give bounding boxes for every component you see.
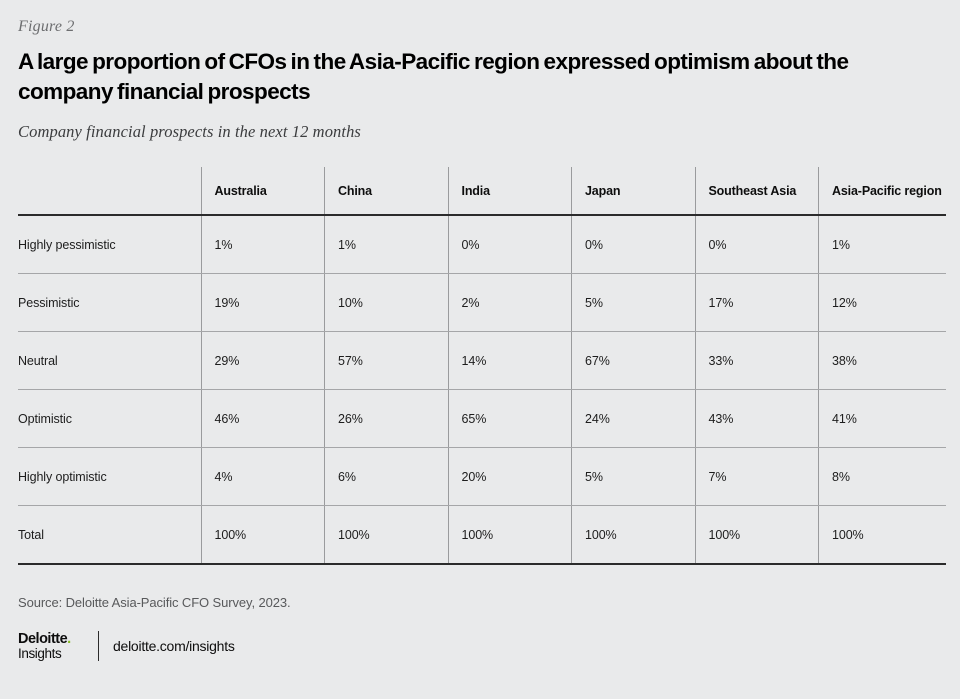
cell-highly-pessimistic-japan: 0% [572, 215, 696, 274]
cell-highly-pessimistic-australia: 1% [201, 215, 325, 274]
row-label-neutral: Neutral [18, 332, 201, 390]
cell-pessimistic-japan: 5% [572, 274, 696, 332]
cell-pessimistic-southeast-asia: 17% [695, 274, 819, 332]
cell-total-india: 100% [448, 506, 572, 565]
cell-pessimistic-china: 10% [325, 274, 449, 332]
cell-optimistic-japan: 24% [572, 390, 696, 448]
column-header-asia-pacific-region: Asia-Pacific region [819, 167, 946, 215]
cell-total-china: 100% [325, 506, 449, 565]
cell-highly-pessimistic-asia-pacific-region: 1% [819, 215, 946, 274]
column-header-australia: Australia [201, 167, 325, 215]
cell-pessimistic-australia: 19% [201, 274, 325, 332]
cell-pessimistic-india: 2% [448, 274, 572, 332]
cell-highly-optimistic-india: 20% [448, 448, 572, 506]
row-label-optimistic: Optimistic [18, 390, 201, 448]
cell-highly-optimistic-asia-pacific-region: 8% [819, 448, 946, 506]
cell-total-southeast-asia: 100% [695, 506, 819, 565]
row-label-pessimistic: Pessimistic [18, 274, 201, 332]
brand-green-dot: . [67, 631, 71, 647]
table-row-total: Total 100% 100% 100% 100% 100% 100% [18, 506, 946, 565]
cell-highly-optimistic-australia: 4% [201, 448, 325, 506]
table-header-row: Australia China India Japan Southeast As… [18, 167, 946, 215]
cell-highly-pessimistic-china: 1% [325, 215, 449, 274]
brand-url: deloitte.com/insights [113, 638, 235, 654]
cell-highly-optimistic-southeast-asia: 7% [695, 448, 819, 506]
cell-neutral-japan: 67% [572, 332, 696, 390]
column-header-southeast-asia: Southeast Asia [695, 167, 819, 215]
cell-total-australia: 100% [201, 506, 325, 565]
row-label-total: Total [18, 506, 201, 565]
cell-neutral-australia: 29% [201, 332, 325, 390]
cell-highly-pessimistic-southeast-asia: 0% [695, 215, 819, 274]
brand-footer: Deloitte. Insights deloitte.com/insights [18, 631, 942, 661]
row-label-highly-optimistic: Highly optimistic [18, 448, 201, 506]
column-header-japan: Japan [572, 167, 696, 215]
column-header-india: India [448, 167, 572, 215]
column-header-china: China [325, 167, 449, 215]
table-header: Australia China India Japan Southeast As… [18, 167, 946, 215]
row-label-highly-pessimistic: Highly pessimistic [18, 215, 201, 274]
figure-subtitle: Company financial prospects in the next … [18, 122, 942, 142]
source-note: Source: Deloitte Asia-Pacific CFO Survey… [18, 595, 942, 610]
cell-neutral-asia-pacific-region: 38% [819, 332, 946, 390]
figure-title: A large proportion of CFOs in the Asia-P… [18, 47, 863, 106]
cell-total-japan: 100% [572, 506, 696, 565]
brand-insights-text: Insights [18, 647, 80, 661]
cell-highly-pessimistic-india: 0% [448, 215, 572, 274]
cell-total-asia-pacific-region: 100% [819, 506, 946, 565]
cell-optimistic-southeast-asia: 43% [695, 390, 819, 448]
cell-neutral-china: 57% [325, 332, 449, 390]
cell-optimistic-australia: 46% [201, 390, 325, 448]
data-table: Australia China India Japan Southeast As… [18, 167, 946, 565]
figure-container: Figure 2 A large proportion of CFOs in t… [0, 0, 960, 699]
deloitte-insights-logo: Deloitte. Insights [18, 632, 80, 661]
brand-divider [98, 631, 99, 661]
brand-deloitte-text: Deloitte [18, 631, 67, 647]
cell-neutral-southeast-asia: 33% [695, 332, 819, 390]
table-row: Pessimistic 19% 10% 2% 5% 17% 12% [18, 274, 946, 332]
table-row: Highly optimistic 4% 6% 20% 5% 7% 8% [18, 448, 946, 506]
table-row: Neutral 29% 57% 14% 67% 33% 38% [18, 332, 946, 390]
cell-neutral-india: 14% [448, 332, 572, 390]
table-row: Highly pessimistic 1% 1% 0% 0% 0% 1% [18, 215, 946, 274]
cell-optimistic-asia-pacific-region: 41% [819, 390, 946, 448]
cell-highly-optimistic-japan: 5% [572, 448, 696, 506]
cell-pessimistic-asia-pacific-region: 12% [819, 274, 946, 332]
cell-optimistic-india: 65% [448, 390, 572, 448]
column-header-rowlabel [18, 167, 201, 215]
table-row: Optimistic 46% 26% 65% 24% 43% 41% [18, 390, 946, 448]
brand-deloitte-wordmark: Deloitte. [18, 632, 80, 647]
figure-label: Figure 2 [18, 0, 942, 36]
table-body: Highly pessimistic 1% 1% 0% 0% 0% 1% Pes… [18, 215, 946, 564]
cell-optimistic-china: 26% [325, 390, 449, 448]
cell-highly-optimistic-china: 6% [325, 448, 449, 506]
